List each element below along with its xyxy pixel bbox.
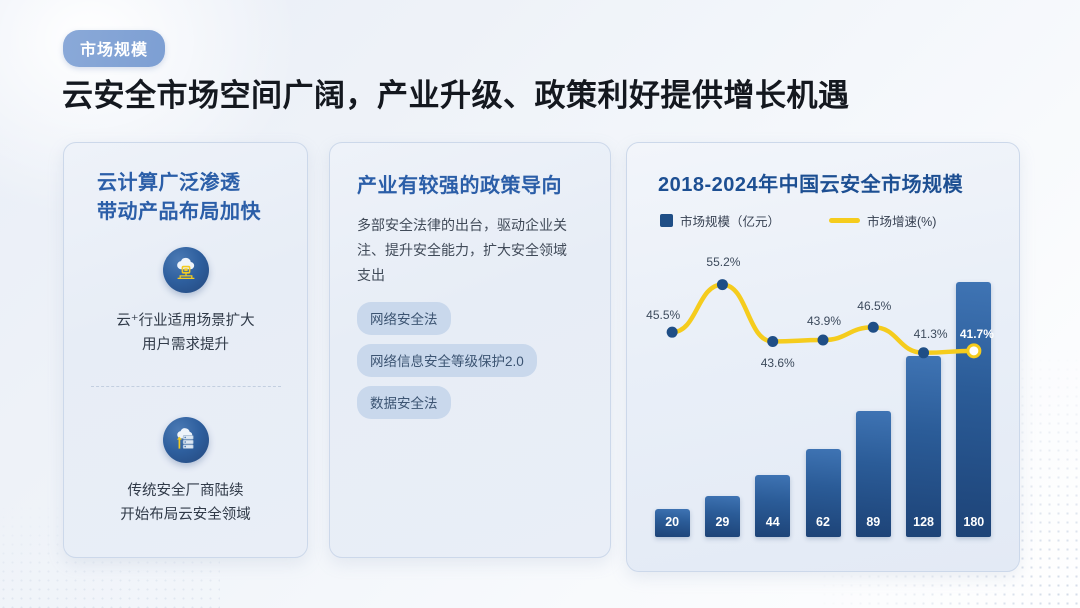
policy-tag-list: 网络安全法 网络信息安全等级保护2.0 数据安全法 (357, 302, 537, 428)
card1-block1-line1: 云⁺行业适用场景扩大 (64, 309, 307, 333)
card2-heading: 产业有较强的政策导向 (357, 169, 562, 198)
line-point (868, 322, 879, 333)
line-point (667, 327, 678, 338)
card-cloud-adoption: 云计算广泛渗透 带动产品布局加快 云⁺行业适用场景扩大 用户需求提升 (63, 142, 308, 558)
legend-item-line: 市场增速(%) (829, 211, 936, 230)
chart-legend: 市场规模（亿元） 市场增速(%) (660, 211, 936, 230)
policy-tag[interactable]: 网络安全法 (357, 302, 451, 335)
line-point (717, 279, 728, 290)
legend-label-line: 市场增速(%) (867, 211, 936, 230)
line-point-current (968, 345, 980, 357)
legend-label-bar: 市场规模（亿元） (680, 211, 780, 230)
policy-tag[interactable]: 网络信息安全等级保护2.0 (357, 344, 537, 377)
card2-body-text: 多部安全法律的出台，驱动企业关注、提升安全能力，扩大安全领域支出 (357, 213, 575, 288)
card1-block2-text: 传统安全厂商陆续 开始布局云安全领域 (64, 479, 307, 527)
line-point (918, 347, 929, 358)
section-badge: 市场规模 (63, 30, 165, 67)
legend-square-icon (660, 214, 673, 227)
card1-block1-line2: 用户需求提升 (64, 333, 307, 357)
cloud-server-upload-icon (163, 417, 209, 463)
policy-tag[interactable]: 数据安全法 (357, 386, 451, 419)
slide: 市场规模 云安全市场空间广阔，产业升级、政策利好提供增长机遇 云计算广泛渗透 带… (0, 0, 1080, 608)
card1-block2-line1: 传统安全厂商陆续 (64, 479, 307, 503)
line-point (767, 336, 778, 347)
card1-heading-line2: 带动产品布局加快 (97, 198, 261, 227)
card1-block1-text: 云⁺行业适用场景扩大 用户需求提升 (64, 309, 307, 357)
card-market-size-chart: 2018-2024年中国云安全市场规模 市场规模（亿元） 市场增速(%) 202… (626, 142, 1020, 572)
legend-item-bar: 市场规模（亿元） (660, 211, 780, 230)
card1-heading: 云计算广泛渗透 带动产品布局加快 (97, 169, 261, 227)
card-policy-guidance: 产业有较强的政策导向 多部安全法律的出台，驱动企业关注、提升安全能力，扩大安全领… (329, 142, 611, 558)
chart-title: 2018-2024年中国云安全市场规模 (658, 168, 963, 197)
growth-line-layer (647, 247, 999, 537)
card1-block-1: 云⁺行业适用场景扩大 用户需求提升 (64, 247, 307, 357)
page-title: 云安全市场空间广阔，产业升级、政策利好提供增长机遇 (62, 70, 850, 115)
line-point (818, 335, 829, 346)
card1-block-2: 传统安全厂商陆续 开始布局云安全领域 (64, 417, 307, 527)
cloud-network-icon (163, 247, 209, 293)
card1-divider (91, 386, 281, 387)
card1-block2-line2: 开始布局云安全领域 (64, 503, 307, 527)
legend-line-icon (829, 218, 860, 223)
card1-heading-line1: 云计算广泛渗透 (97, 169, 261, 198)
